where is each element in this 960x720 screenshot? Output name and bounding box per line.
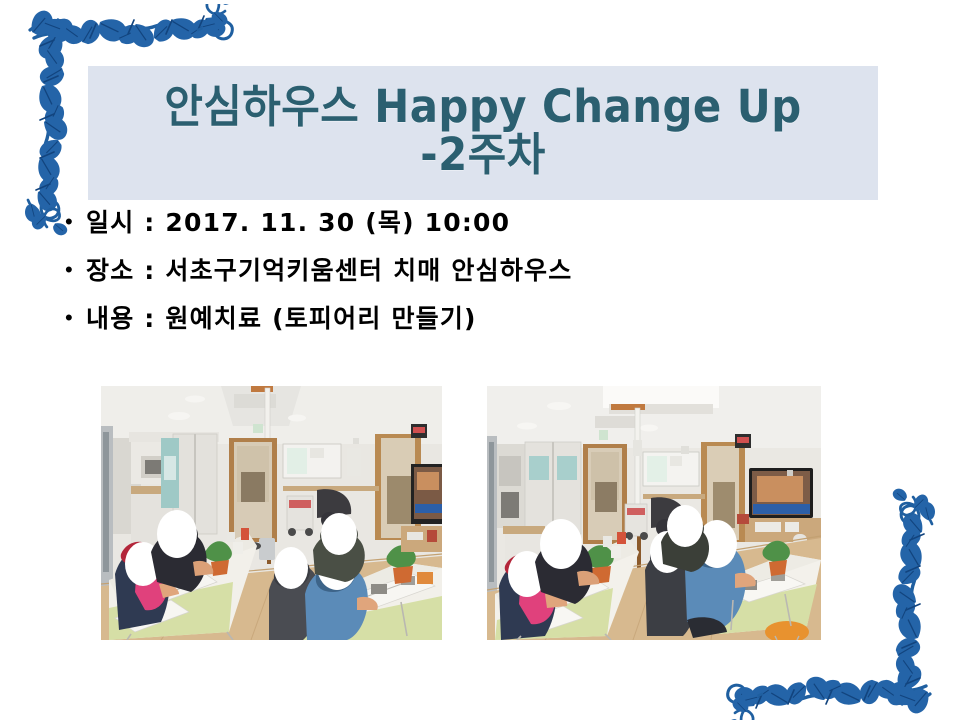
page-title: 안심하우스 Happy Change Up -2주차 [125, 83, 841, 178]
list-item: • 내용 : 원예치료 (토피어리 만들기) [60, 296, 920, 344]
title-line-1: 안심하우스 Happy Change Up [164, 80, 801, 133]
horticultural-therapy-photo-right [487, 386, 821, 640]
bullet-dot-icon: • [60, 200, 86, 244]
slide-canvas: 안심하우스 Happy Change Up -2주차 • 일시 : 2017. … [0, 0, 960, 720]
bullet-text-date: 일시 : 2017. 11. 30 (목) 10:00 [86, 200, 510, 246]
list-item: • 장소 : 서초구기억키움센터 치매 안심하우스 [60, 248, 920, 296]
bullet-dot-icon: • [60, 248, 86, 292]
title-banner: 안심하우스 Happy Change Up -2주차 [88, 66, 878, 200]
title-line-2: -2주차 [125, 131, 841, 179]
bullet-text-location: 장소 : 서초구기억키움센터 치매 안심하우스 [86, 248, 572, 294]
list-item: • 일시 : 2017. 11. 30 (목) 10:00 [60, 200, 920, 248]
bullet-text-content: 내용 : 원예치료 (토피어리 만들기) [86, 296, 477, 342]
bullet-dot-icon: • [60, 296, 86, 340]
detail-bullet-list: • 일시 : 2017. 11. 30 (목) 10:00 • 장소 : 서초구… [60, 200, 920, 344]
horticultural-therapy-photo-left [101, 386, 442, 640]
